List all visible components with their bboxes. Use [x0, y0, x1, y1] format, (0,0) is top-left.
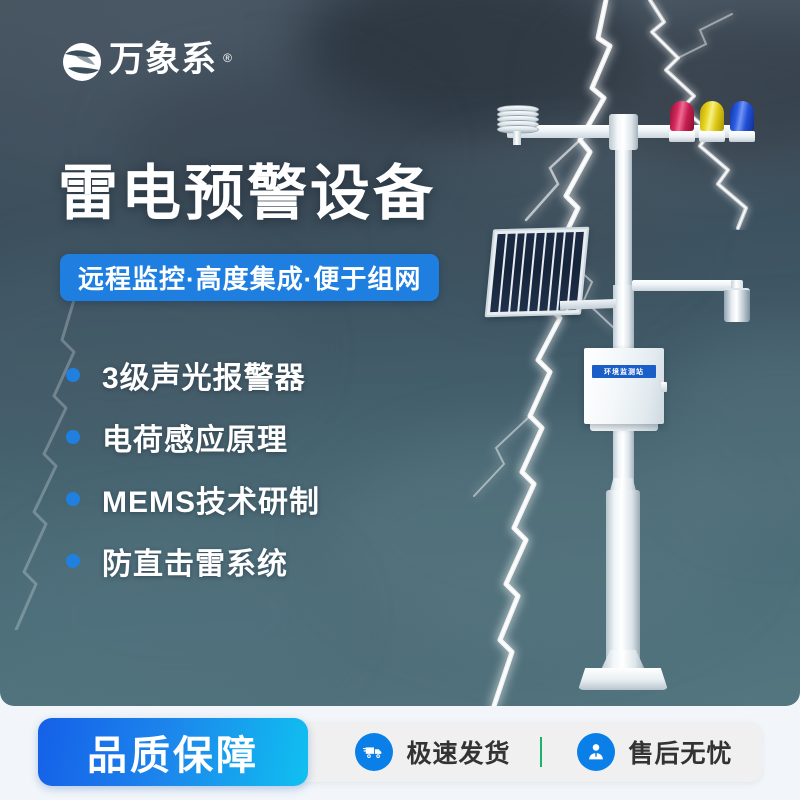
- service-item-shipping[interactable]: 极速发货: [286, 733, 540, 771]
- feature-item: 防直击雷系统: [66, 530, 320, 592]
- yellow-alarm-lamp: [700, 101, 724, 142]
- red-alarm-lamp: [670, 101, 694, 142]
- brand-logo: 万象系 ®: [62, 40, 217, 82]
- bullet-dot-icon: [66, 368, 80, 382]
- cylindrical-sensor: [724, 288, 750, 322]
- bullet-dot-icon: [66, 492, 80, 506]
- cross-arm-joint: [609, 114, 638, 150]
- solar-panel-mount: [560, 299, 616, 310]
- control-box-label: 环境监测站: [592, 365, 656, 378]
- feature-label: 电荷感应原理: [102, 415, 288, 459]
- blue-alarm-lamp: [730, 101, 754, 142]
- quality-badge-label: 品质保障: [87, 723, 259, 781]
- feature-label: 防直击雷系统: [102, 539, 288, 583]
- brand-name-text: 万象系: [109, 40, 217, 79]
- service-guarantee-bar: 极速发货 售后无忧: [286, 722, 762, 782]
- mast-base-plate: [578, 668, 668, 690]
- product-ad-page: 万象系 ® 雷电预警设备 远程监控·高度集成·便于组网 3级声光报警器 电荷感应…: [0, 0, 800, 800]
- feature-item: 电荷感应原理: [66, 406, 320, 468]
- service-label: 极速发货: [406, 734, 510, 770]
- feature-list: 3级声光报警器 电荷感应原理 MEMS技术研制 防直击雷系统: [66, 344, 320, 592]
- radiation-shield-icon: [497, 105, 537, 133]
- feature-item: MEMS技术研制: [66, 468, 320, 530]
- bullet-dot-icon: [66, 430, 80, 444]
- hero-storm-background: 万象系 ® 雷电预警设备 远程监控·高度集成·便于组网 3级声光报警器 电荷感应…: [0, 0, 800, 706]
- service-item-aftersales[interactable]: 售后无忧: [542, 733, 762, 771]
- feature-label: MEMS技术研制: [102, 477, 320, 521]
- feature-label: 3级声光报警器: [102, 353, 306, 397]
- subtitle-badge: 远程监控·高度集成·便于组网: [60, 254, 439, 301]
- lower-mast: [606, 490, 640, 675]
- page-title: 雷电预警设备: [58, 158, 436, 230]
- service-label: 售后无忧: [628, 734, 732, 770]
- feature-item: 3级声光报警器: [66, 344, 320, 406]
- delivery-truck-icon: [355, 733, 393, 771]
- swirl-globe-logo-icon: [62, 42, 102, 82]
- support-agent-icon: [577, 733, 615, 771]
- registered-trademark-icon: ®: [223, 38, 233, 78]
- quality-guarantee-badge[interactable]: 品质保障: [38, 718, 308, 786]
- brand-name: 万象系 ®: [109, 40, 217, 80]
- bullet-dot-icon: [66, 554, 80, 568]
- control-box-latch: [661, 382, 667, 392]
- control-box: [584, 348, 664, 424]
